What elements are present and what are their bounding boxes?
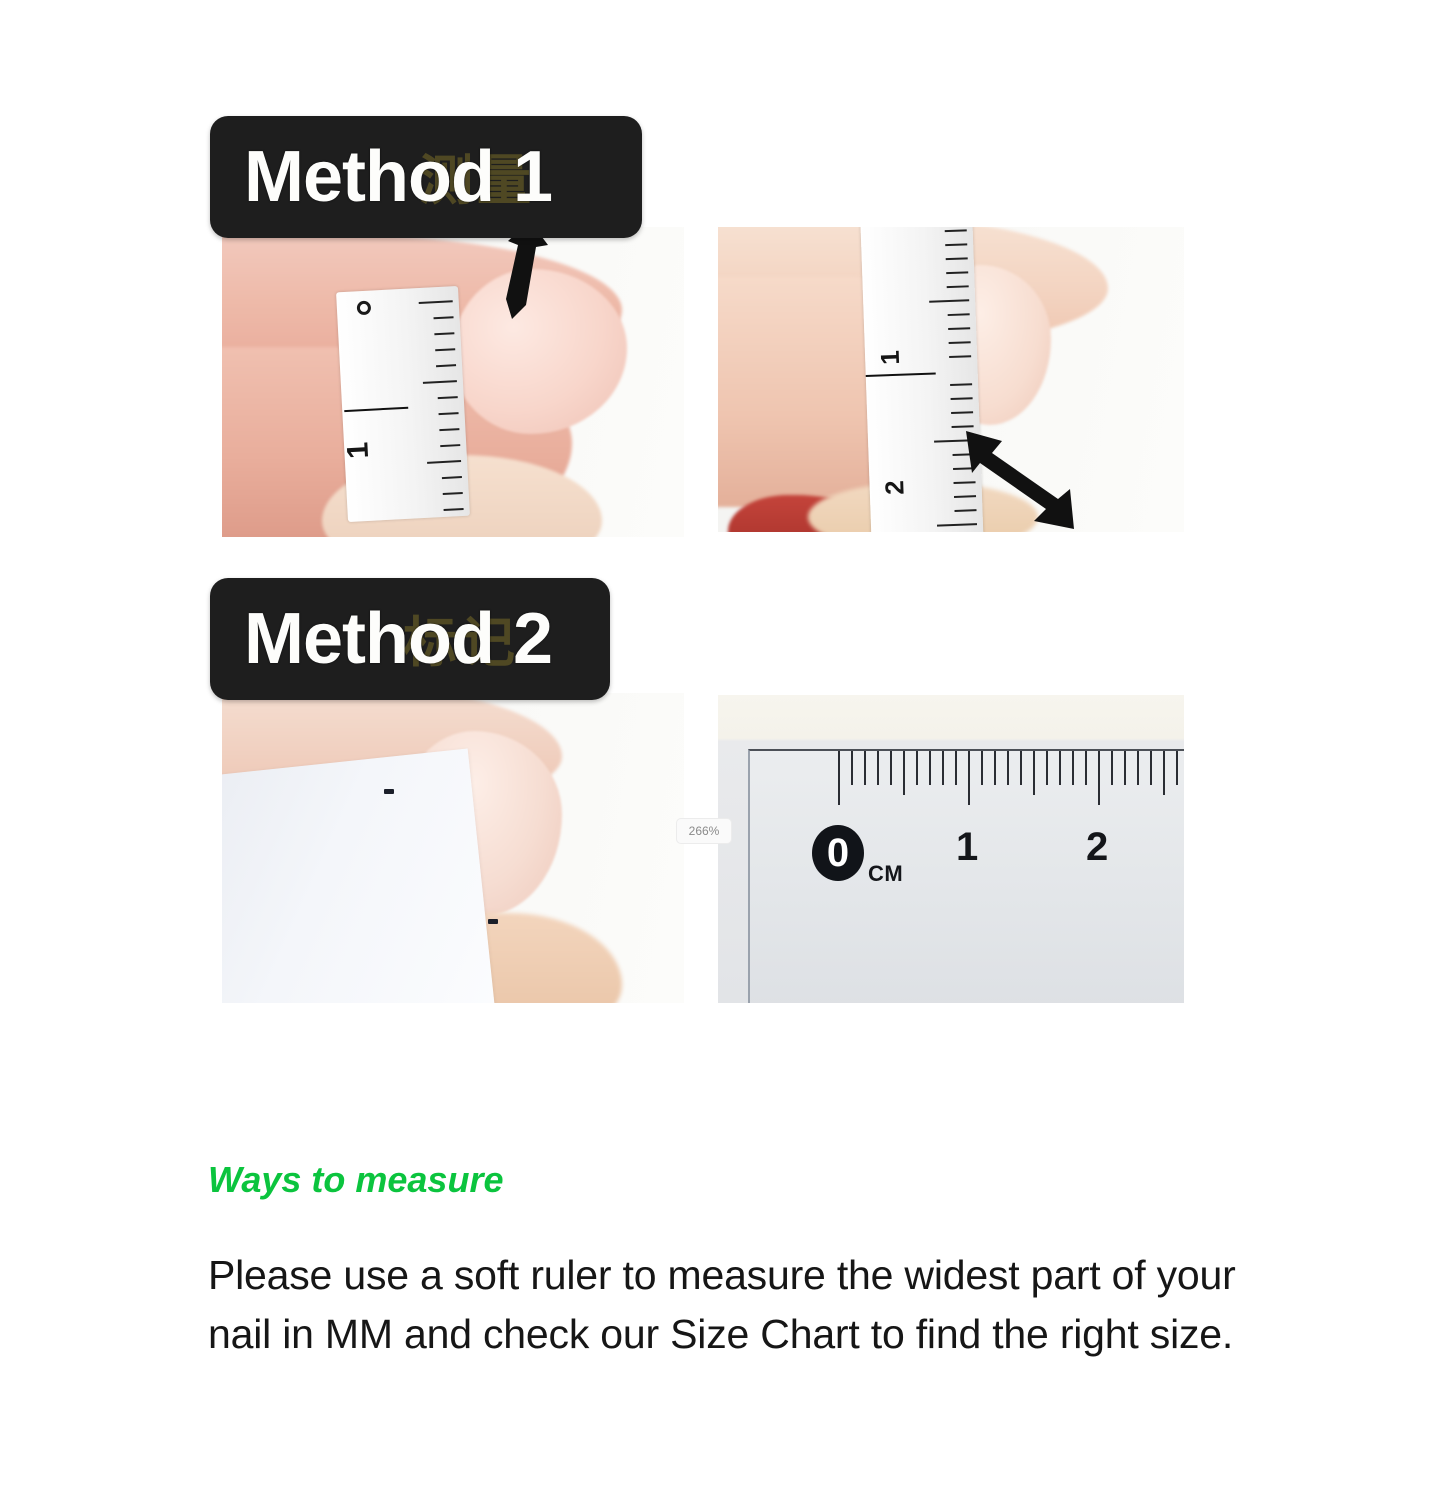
section-heading: Ways to measure	[208, 1160, 1238, 1200]
method-2-badge: 标记 Method 2	[210, 578, 610, 700]
zoom-level-indicator[interactable]: 266%	[676, 818, 732, 844]
photo-method1-step2: 1 2	[718, 227, 1184, 532]
ruler-zero-label: 0	[827, 831, 849, 876]
ruler: 0 CM 1 2 3	[748, 749, 1184, 1003]
ruler-number-1: 1	[956, 825, 978, 870]
tape-ticks	[336, 286, 470, 522]
measuring-tape: 1	[336, 286, 470, 522]
strip-mark	[488, 919, 498, 924]
up-left-arrow-icon	[962, 425, 1092, 532]
ruler-zero-marker: 0	[812, 825, 864, 881]
photo-method1-step1: 1	[222, 227, 684, 537]
photo-method2-step1	[222, 693, 684, 1003]
method-1-badge: 测量 Method 1	[210, 116, 642, 238]
ruler-unit-label: CM	[868, 861, 903, 887]
photo-method2-step2: 0 CM 1 2 3	[718, 695, 1184, 1003]
down-arrow-icon	[460, 227, 570, 329]
measure-instructions: Ways to measure Please use a soft ruler …	[208, 1160, 1238, 1364]
section-body-text: Please use a soft ruler to measure the w…	[208, 1246, 1238, 1365]
ruler-number-2: 2	[1086, 825, 1108, 870]
strip-mark	[384, 789, 394, 794]
method-2-label: Method 2	[244, 598, 552, 680]
paper-strip	[222, 749, 495, 1003]
method-1-label: Method 1	[244, 136, 552, 218]
